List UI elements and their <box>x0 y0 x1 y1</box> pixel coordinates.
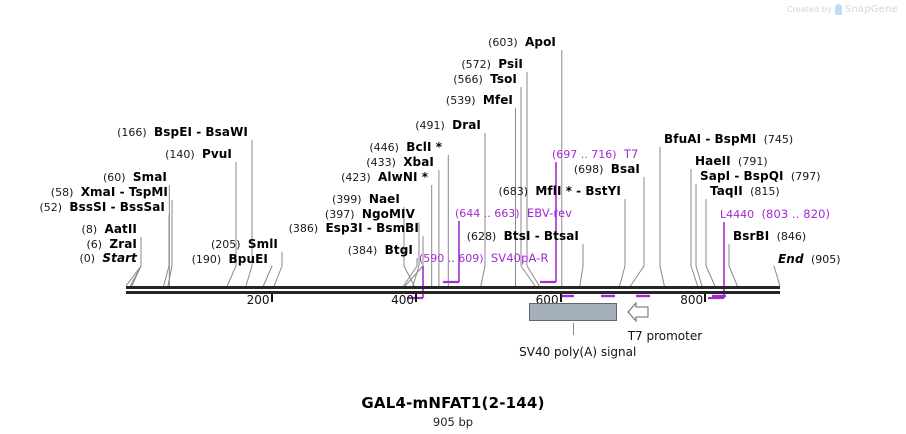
leader-line <box>729 266 737 286</box>
enzyme-name: BtsaI <box>544 229 579 243</box>
primer-range: (590 .. 609) <box>419 252 484 265</box>
enzyme-name: End <box>778 252 804 266</box>
feature-box-sv40-polya[interactable] <box>529 303 617 321</box>
primer-name: T7 <box>624 147 639 161</box>
enzyme-name: SapI <box>700 169 730 183</box>
site-position: (628) <box>467 230 497 243</box>
site-position: (397) <box>325 208 355 221</box>
enzyme-name: BfuAI <box>664 132 701 146</box>
site-position: (446) <box>369 141 399 154</box>
leader-line <box>580 266 583 286</box>
sequence-title: GAL4-mNFAT1(2-144) <box>0 394 906 412</box>
enzyme-name: BsaI <box>611 162 640 176</box>
enzyme-name: BstYI <box>585 184 621 198</box>
site-position: (745) <box>764 133 794 146</box>
axis-line-top <box>126 286 780 289</box>
enzyme-site-label[interactable]: TaqII (815) <box>710 185 780 198</box>
site-position: (566) <box>453 73 483 86</box>
enzyme-name: BspMI <box>715 132 757 146</box>
enzyme-name: BsrBI <box>733 229 769 243</box>
leader-line <box>774 266 780 286</box>
enzyme-name: TaqII <box>710 184 743 198</box>
leader-line <box>227 266 236 286</box>
enzyme-name: HaeII <box>695 154 731 168</box>
site-position: (815) <box>750 185 780 198</box>
primer-name: SV40pA-R <box>491 251 549 265</box>
site-position: (791) <box>738 155 768 168</box>
star-marker: * <box>562 184 572 198</box>
enzyme-site-label[interactable]: (628) BtsI - BtsaI <box>0 230 579 243</box>
enzyme-name: MflI <box>535 184 561 198</box>
enzyme-name: BtsI <box>504 229 531 243</box>
leader-line <box>630 266 644 286</box>
enzyme-name: BclI <box>406 140 431 154</box>
enzyme-name: BtgI <box>385 243 413 257</box>
name-separator: - <box>531 229 544 243</box>
axis-tick-label: 400 <box>391 293 414 307</box>
site-position: (491) <box>415 119 445 132</box>
site-position: (698) <box>574 163 604 176</box>
leader-line <box>263 266 272 286</box>
primer-range: L4440 <box>720 208 754 221</box>
enzyme-site-label[interactable]: (397) NgoMIV <box>0 208 415 221</box>
enzyme-site-label[interactable]: BsrBI (846) <box>733 230 806 243</box>
enzyme-site-label[interactable]: End (905) <box>778 253 841 266</box>
site-position: (384) <box>348 244 378 257</box>
sequence-axis[interactable]: 200400600800 <box>0 0 906 60</box>
enzyme-site-label[interactable]: (698) BsaI <box>0 163 640 176</box>
site-position: (797) <box>791 170 821 183</box>
site-position: (683) <box>498 185 528 198</box>
enzyme-site-label[interactable]: (539) MfeI <box>0 94 513 107</box>
leader-line <box>481 266 485 286</box>
enzyme-name: MfeI <box>483 93 513 107</box>
enzyme-site-label[interactable]: (683) MflI * - BstYI <box>0 185 621 198</box>
enzyme-name: DraI <box>452 118 481 132</box>
primer-name: (803 .. 820) <box>761 207 830 221</box>
leader-line <box>246 266 252 286</box>
primer-range: (644 .. 663) <box>455 207 520 220</box>
enzyme-site-label[interactable]: BfuAI - BspMI (745) <box>664 133 793 146</box>
enzyme-site-label[interactable]: (566) TsoI <box>0 73 517 86</box>
primer-name: EBV-rev <box>527 206 572 220</box>
feature-leader-stem <box>573 323 574 335</box>
enzyme-name: NgoMIV <box>362 207 415 221</box>
leader-line <box>620 266 625 286</box>
enzyme-site-label[interactable]: HaeII (791) <box>695 155 768 168</box>
enzyme-site-label[interactable]: (446) BclI * <box>0 141 442 154</box>
star-marker: * <box>432 140 442 154</box>
axis-tick-label: 200 <box>247 293 270 307</box>
name-separator: - <box>572 184 585 198</box>
leader-line <box>660 266 664 286</box>
left-arrow-icon[interactable] <box>626 301 652 323</box>
sequence-length: 905 bp <box>0 415 906 429</box>
name-separator: - <box>730 169 743 183</box>
primer-label[interactable]: L4440 (803 .. 820) <box>720 208 830 221</box>
axis-tick <box>271 294 273 302</box>
leader-line <box>274 266 282 286</box>
leader-line <box>706 266 715 286</box>
feature-label-t7-promoter: T7 promoter <box>628 329 702 343</box>
title-block: GAL4-mNFAT1(2-144) 905 bp <box>0 394 906 429</box>
enzyme-site-label[interactable]: (384) BtgI <box>0 244 413 257</box>
primer-range: (697 .. 716) <box>552 148 617 161</box>
enzyme-site-label[interactable]: SapI - BspQI (797) <box>700 170 821 183</box>
axis-tick-label: 800 <box>680 293 703 307</box>
axis-tick <box>415 294 417 302</box>
axis-tick <box>560 294 562 302</box>
site-position: (539) <box>446 94 476 107</box>
enzyme-name: TsoI <box>490 72 517 86</box>
primer-label[interactable]: (697 .. 716) T7 <box>552 148 638 161</box>
primer-label[interactable]: (644 .. 663) EBV-rev <box>455 207 572 220</box>
name-separator: - <box>701 132 714 146</box>
feature-label-sv40-polya: SV40 poly(A) signal <box>0 345 636 359</box>
snapgene-sequence-map: Created by SnapGene (0) Start(6) ZraI(8)… <box>0 0 906 434</box>
site-position: (905) <box>811 253 841 266</box>
site-position: (846) <box>777 230 807 243</box>
enzyme-name: BspQI <box>744 169 784 183</box>
axis-tick <box>704 294 706 302</box>
enzyme-site-label[interactable]: (491) DraI <box>0 119 481 132</box>
primer-label[interactable]: (590 .. 609) SV40pA-R <box>419 252 549 265</box>
